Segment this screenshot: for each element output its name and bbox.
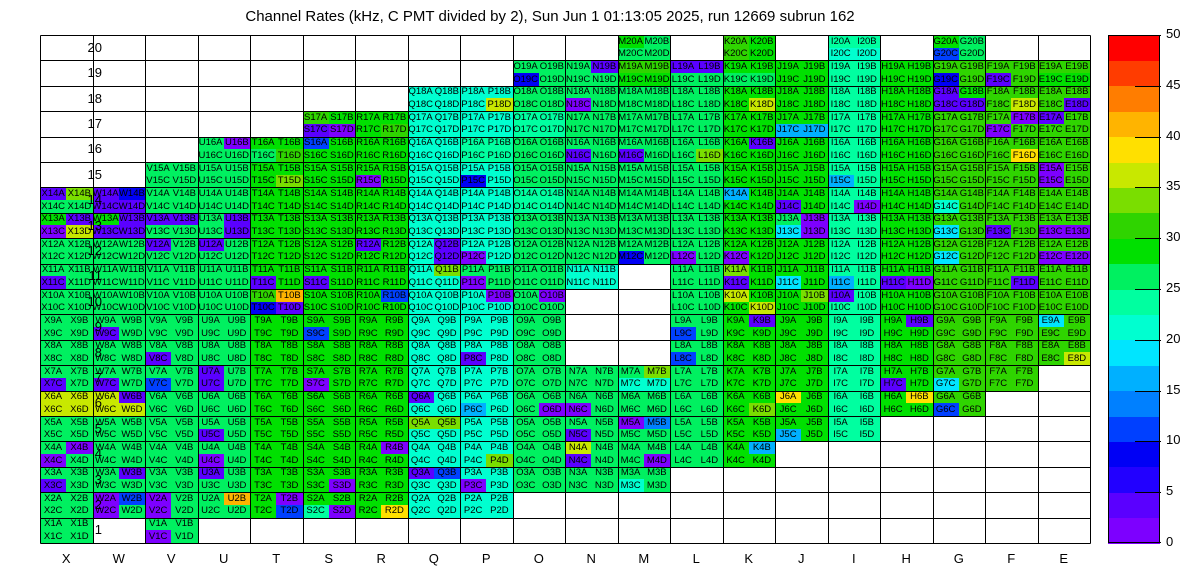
- colorbar-tick-label: 35: [1166, 178, 1180, 193]
- y-axis-label: 7: [78, 370, 102, 385]
- colorbar-tick: [1135, 391, 1161, 392]
- heatmap-page: Channel Rates (kHz, C PMT divided by 2),…: [0, 0, 1196, 572]
- y-axis-label: 10: [78, 294, 102, 309]
- colorbar-segment: [1108, 238, 1160, 264]
- x-axis-label: U: [198, 551, 251, 566]
- colorbar-segment: [1108, 518, 1160, 544]
- y-axis-label: 8: [78, 345, 102, 360]
- x-axis-label: E: [1038, 551, 1091, 566]
- colorbar-segment: [1108, 467, 1160, 493]
- colorbar-tick: [1135, 542, 1161, 543]
- page-title: Channel Rates (kHz, C PMT divided by 2),…: [0, 8, 1100, 25]
- x-axis-label: K: [723, 551, 776, 566]
- colorbar-tick-label: 30: [1166, 229, 1180, 244]
- x-axis-label: V: [145, 551, 198, 566]
- x-axis-label: H: [880, 551, 933, 566]
- y-axis-label: 11: [78, 268, 102, 283]
- x-axis-label: T: [250, 551, 303, 566]
- colorbar-tick-label: 50: [1166, 26, 1180, 41]
- y-axis-label: 1: [78, 522, 102, 537]
- y-axis-label: 20: [78, 40, 102, 55]
- colorbar-tick: [1135, 492, 1161, 493]
- colorbar-segment: [1108, 441, 1160, 467]
- y-axis-label: 16: [78, 141, 102, 156]
- grid-lines: [40, 35, 1091, 544]
- colorbar-segment: [1108, 60, 1160, 86]
- y-axis-label: 12: [78, 243, 102, 258]
- colorbar-segment: [1108, 111, 1160, 137]
- y-axis-label: 3: [78, 472, 102, 487]
- colorbar-segment: [1108, 264, 1160, 290]
- x-axis-label: G: [933, 551, 986, 566]
- colorbar-tick: [1135, 187, 1161, 188]
- colorbar-tick-label: 10: [1166, 432, 1180, 447]
- colorbar-tick-label: 20: [1166, 331, 1180, 346]
- colorbar-segment: [1108, 187, 1160, 213]
- colorbar-segment: [1108, 365, 1160, 391]
- colorbar-tick: [1135, 441, 1161, 442]
- colorbar-segment: [1108, 162, 1160, 188]
- x-axis-label: J: [775, 551, 828, 566]
- x-axis-label: R: [355, 551, 408, 566]
- colorbar-segment: [1108, 492, 1160, 518]
- colorbar-tick: [1135, 238, 1161, 239]
- colorbar-segment: [1108, 137, 1160, 163]
- x-axis-label: W: [93, 551, 146, 566]
- y-axis-label: 13: [78, 218, 102, 233]
- x-axis-label: X: [40, 551, 93, 566]
- colorbar-tick-label: 45: [1166, 77, 1180, 92]
- colorbar-tick: [1135, 137, 1161, 138]
- x-axis-label: F: [985, 551, 1038, 566]
- x-axis-label: P: [460, 551, 513, 566]
- x-axis-label: Q: [408, 551, 461, 566]
- heatmap-plot: M20AM20BM20CM20DK20AK20BK20CK20DI20AI20B…: [40, 35, 1090, 543]
- y-axis-label: 5: [78, 421, 102, 436]
- colorbar-segment: [1108, 314, 1160, 340]
- y-axis-label: 9: [78, 319, 102, 334]
- colorbar-tick-label: 25: [1166, 280, 1180, 295]
- colorbar-tick: [1135, 289, 1161, 290]
- y-axis-label: 15: [78, 167, 102, 182]
- colorbar-segment: [1108, 391, 1160, 417]
- x-axis-label: L: [670, 551, 723, 566]
- colorbar-tick: [1135, 35, 1161, 36]
- colorbar-tick-label: 40: [1166, 128, 1180, 143]
- colorbar-tick-label: 15: [1166, 382, 1180, 397]
- x-axis-label: O: [513, 551, 566, 566]
- colorbar-segment: [1108, 86, 1160, 112]
- y-axis-label: 14: [78, 192, 102, 207]
- x-axis-label: I: [828, 551, 881, 566]
- colorbar-segment: [1108, 213, 1160, 239]
- colorbar-segment: [1108, 416, 1160, 442]
- x-axis-label: S: [303, 551, 356, 566]
- colorbar-segment: [1108, 340, 1160, 366]
- y-axis-label: 17: [78, 116, 102, 131]
- colorbar-segment: [1108, 289, 1160, 315]
- colorbar-tick: [1135, 86, 1161, 87]
- colorbar-tick-label: 0: [1166, 534, 1173, 549]
- y-axis-label: 18: [78, 91, 102, 106]
- y-axis-label: 2: [78, 497, 102, 512]
- colorbar-segment: [1108, 35, 1160, 61]
- colorbar-tick: [1135, 340, 1161, 341]
- colorbar-tick-label: 5: [1166, 483, 1173, 498]
- x-axis-label: M: [618, 551, 671, 566]
- y-axis-label: 6: [78, 395, 102, 410]
- y-axis-label: 4: [78, 446, 102, 461]
- y-axis-label: 19: [78, 65, 102, 80]
- x-axis-label: N: [565, 551, 618, 566]
